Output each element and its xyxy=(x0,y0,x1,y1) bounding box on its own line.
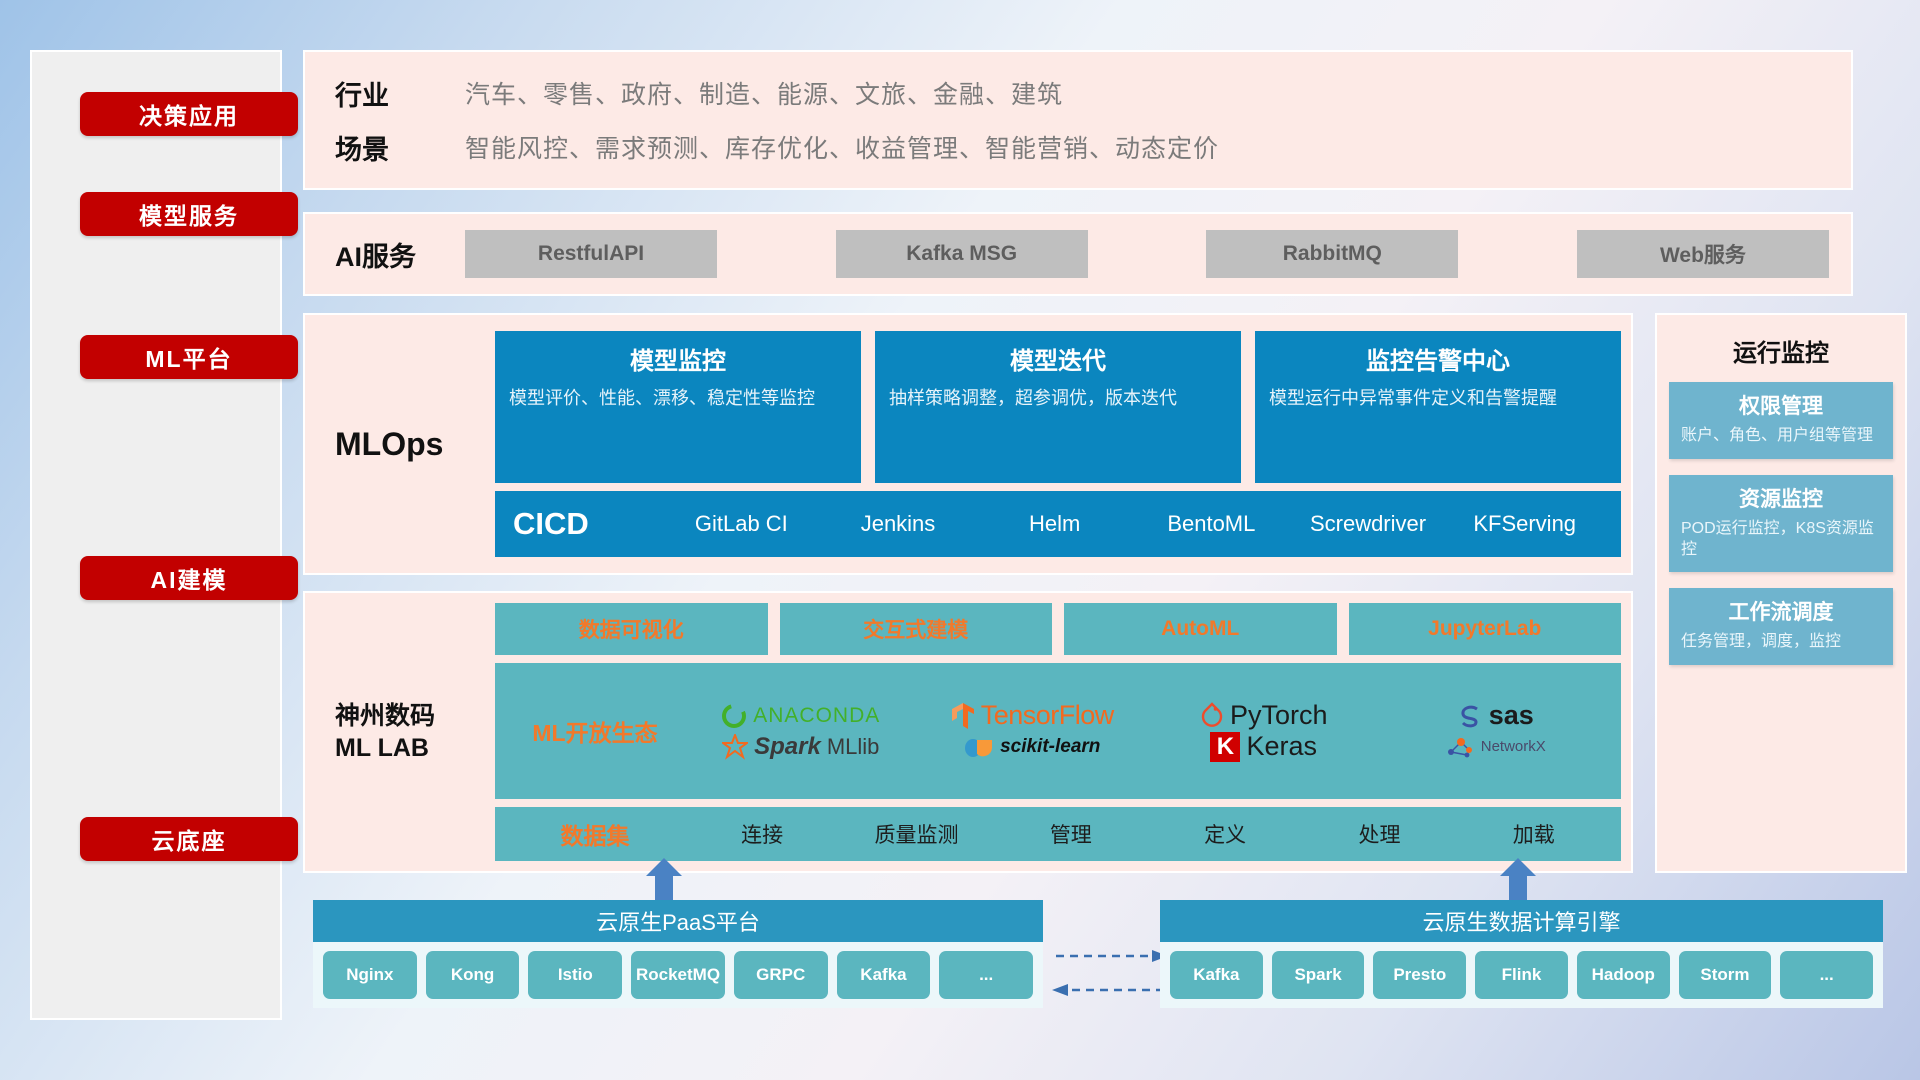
paas-chip-istio[interactable]: Istio xyxy=(528,951,622,999)
scenario-label: 场景 xyxy=(335,128,465,167)
mlops-card-model-iteration[interactable]: 模型迭代 抽样策略调整，超参调优，版本迭代 xyxy=(875,331,1241,483)
anaconda-label: ANACONDA xyxy=(753,704,880,728)
left-rail: 决策应用 模型服务 ML平台 AI建模 云底座 xyxy=(30,50,282,1020)
spark-mllib-logo: Spark MLlib xyxy=(685,733,917,761)
card-title: 资源监控 xyxy=(1681,483,1881,513)
rail-item-cloud-base[interactable]: 云底座 xyxy=(80,817,298,861)
scikit-learn-label: scikit-learn xyxy=(1000,736,1100,758)
card-title: 监控告警中心 xyxy=(1269,341,1607,376)
card-title: 权限管理 xyxy=(1681,390,1881,420)
service-chip-restfulapi[interactable]: RestfulAPI xyxy=(465,230,717,278)
scikit-learn-logo: scikit-learn xyxy=(917,734,1149,760)
card-desc: 抽样策略调整，超参调优，版本迭代 xyxy=(889,386,1227,410)
pytorch-logo: PyTorch xyxy=(1148,700,1380,731)
ai-service-label: AI服务 xyxy=(335,235,465,274)
industry-values: 汽车、零售、政府、制造、能源、文旅、金融、建筑 xyxy=(465,75,1063,111)
dataset-item-load[interactable]: 加载 xyxy=(1457,819,1611,849)
ml-lab-label-en: ML LAB xyxy=(335,732,495,765)
cloud-paas-block: 云原生PaaS平台 Nginx Kong Istio RocketMQ GRPC… xyxy=(313,900,1043,1008)
keras-label: Keras xyxy=(1246,731,1317,762)
dataset-item-quality[interactable]: 质量监测 xyxy=(839,819,993,849)
ml-lab-label-cn: 神州数码 xyxy=(335,700,495,733)
cicd-item-bentoml[interactable]: BentoML xyxy=(1133,512,1290,536)
paas-chip-rocketmq[interactable]: RocketMQ xyxy=(631,951,725,999)
rail-item-model-service[interactable]: 模型服务 xyxy=(80,192,298,236)
mlops-card-model-monitoring[interactable]: 模型监控 模型评价、性能、漂移、稳定性等监控 xyxy=(495,331,861,483)
pytorch-label: PyTorch xyxy=(1230,700,1328,731)
dataset-item-define[interactable]: 定义 xyxy=(1148,819,1302,849)
paas-chip-more[interactable]: ... xyxy=(939,951,1033,999)
cicd-label: CICD xyxy=(513,506,663,542)
cicd-item-helm[interactable]: Helm xyxy=(976,512,1133,536)
keras-mark: K xyxy=(1210,732,1240,762)
rail-item-ml-platform[interactable]: ML平台 xyxy=(80,335,298,379)
service-chip-web[interactable]: Web服务 xyxy=(1577,230,1829,278)
networkx-logo: NetworkX xyxy=(1380,734,1612,760)
card-desc: POD运行监控，K8S资源监控 xyxy=(1681,519,1881,561)
mlops-band: MLOps 模型监控 模型评价、性能、漂移、稳定性等监控 模型迭代 抽样策略调整… xyxy=(303,313,1633,575)
tensorflow-label: TensorFlow xyxy=(981,700,1114,731)
rail-item-ai-modeling[interactable]: AI建模 xyxy=(80,556,298,600)
up-arrow-paas-icon xyxy=(644,858,684,904)
engine-chip-more[interactable]: ... xyxy=(1780,951,1873,999)
engine-chip-presto[interactable]: Presto xyxy=(1373,951,1466,999)
ml-open-ecosystem: ML开放生态 ANACONDA TensorFlow PyTorch xyxy=(495,663,1621,799)
spark-label: Spark xyxy=(754,733,821,761)
mlops-card-alert-center[interactable]: 监控告警中心 模型运行中异常事件定义和告警提醒 xyxy=(1255,331,1621,483)
service-chip-rabbitmq[interactable]: RabbitMQ xyxy=(1206,230,1458,278)
decision-application-band: 行业 汽车、零售、政府、制造、能源、文旅、金融、建筑 场景 智能风控、需求预测、… xyxy=(303,50,1853,190)
card-desc: 模型运行中异常事件定义和告警提醒 xyxy=(1269,386,1607,410)
card-title: 模型监控 xyxy=(509,341,847,376)
eco-label: ML开放生态 xyxy=(505,714,685,748)
run-monitor-title: 运行监控 xyxy=(1669,333,1893,368)
networkx-label: NetworkX xyxy=(1481,739,1546,754)
paas-chip-grpc[interactable]: GRPC xyxy=(734,951,828,999)
dataset-label: 数据集 xyxy=(505,817,685,851)
cicd-item-jenkins[interactable]: Jenkins xyxy=(820,512,977,536)
sas-logo: sas xyxy=(1380,700,1612,731)
card-title: 模型迭代 xyxy=(889,341,1227,376)
engine-chip-hadoop[interactable]: Hadoop xyxy=(1577,951,1670,999)
ai-service-band: AI服务 RestfulAPI Kafka MSG RabbitMQ Web服务 xyxy=(303,212,1853,296)
cloud-paas-title: 云原生PaaS平台 xyxy=(313,900,1043,942)
card-desc: 账户、角色、用户组等管理 xyxy=(1681,426,1881,447)
bidirectional-dashed-link-icon xyxy=(1050,938,1170,1008)
cicd-bar: CICD GitLab CI Jenkins Helm BentoML Scre… xyxy=(495,491,1621,557)
monitor-card-workflow[interactable]: 工作流调度 任务管理，调度，监控 xyxy=(1669,588,1893,665)
dataset-item-process[interactable]: 处理 xyxy=(1302,819,1456,849)
dataset-item-connect[interactable]: 连接 xyxy=(685,819,839,849)
lab-tab-data-visualization[interactable]: 数据可视化 xyxy=(495,603,768,655)
run-monitor-panel: 运行监控 权限管理 账户、角色、用户组等管理 资源监控 POD运行监控，K8S资… xyxy=(1655,313,1907,873)
cloud-engine-title: 云原生数据计算引擎 xyxy=(1160,900,1883,942)
dataset-item-manage[interactable]: 管理 xyxy=(994,819,1148,849)
card-desc: 任务管理，调度，监控 xyxy=(1681,632,1881,653)
card-desc: 模型评价、性能、漂移、稳定性等监控 xyxy=(509,386,847,410)
engine-chip-spark[interactable]: Spark xyxy=(1272,951,1365,999)
paas-chip-kafka[interactable]: Kafka xyxy=(837,951,931,999)
lab-tab-interactive-modeling[interactable]: 交互式建模 xyxy=(780,603,1053,655)
card-title: 工作流调度 xyxy=(1681,596,1881,626)
cloud-engine-block: 云原生数据计算引擎 Kafka Spark Presto Flink Hadoo… xyxy=(1160,900,1883,1008)
anaconda-logo: ANACONDA xyxy=(685,703,917,729)
engine-chip-kafka[interactable]: Kafka xyxy=(1170,951,1263,999)
monitor-card-resource[interactable]: 资源监控 POD运行监控，K8S资源监控 xyxy=(1669,475,1893,573)
rail-item-decision-app[interactable]: 决策应用 xyxy=(80,92,298,136)
mlops-label: MLOps xyxy=(335,426,495,463)
up-arrow-engine-icon xyxy=(1498,858,1538,904)
keras-logo: K Keras xyxy=(1148,731,1380,762)
paas-chip-nginx[interactable]: Nginx xyxy=(323,951,417,999)
mllib-label: MLlib xyxy=(827,734,880,760)
engine-chip-storm[interactable]: Storm xyxy=(1679,951,1772,999)
service-chip-kafka-msg[interactable]: Kafka MSG xyxy=(836,230,1088,278)
lab-tab-jupyterlab[interactable]: JupyterLab xyxy=(1349,603,1622,655)
cicd-item-gitlab-ci[interactable]: GitLab CI xyxy=(663,512,820,536)
tensorflow-logo: TensorFlow xyxy=(917,700,1149,731)
industry-label: 行业 xyxy=(335,74,465,113)
engine-chip-flink[interactable]: Flink xyxy=(1475,951,1568,999)
dataset-row: 数据集 连接 质量监测 管理 定义 处理 加载 xyxy=(495,807,1621,861)
lab-tab-automl[interactable]: AutoML xyxy=(1064,603,1337,655)
scenario-row: 场景 智能风控、需求预测、库存优化、收益管理、智能营销、动态定价 xyxy=(335,120,1851,174)
paas-chip-kong[interactable]: Kong xyxy=(426,951,520,999)
industry-row: 行业 汽车、零售、政府、制造、能源、文旅、金融、建筑 xyxy=(335,66,1851,120)
cicd-item-screwdriver[interactable]: Screwdriver xyxy=(1290,512,1447,536)
monitor-card-permission[interactable]: 权限管理 账户、角色、用户组等管理 xyxy=(1669,382,1893,459)
cicd-item-kfserving[interactable]: KFServing xyxy=(1446,512,1603,536)
ml-lab-band: 神州数码 ML LAB 数据可视化 交互式建模 AutoML JupyterLa… xyxy=(303,591,1633,873)
diagram-canvas: 决策应用 模型服务 ML平台 AI建模 云底座 行业 汽车、零售、政府、制造、能… xyxy=(0,0,1920,1080)
scenario-values: 智能风控、需求预测、库存优化、收益管理、智能营销、动态定价 xyxy=(465,129,1219,165)
ml-lab-label: 神州数码 ML LAB xyxy=(335,700,495,765)
sas-label: sas xyxy=(1489,700,1534,731)
